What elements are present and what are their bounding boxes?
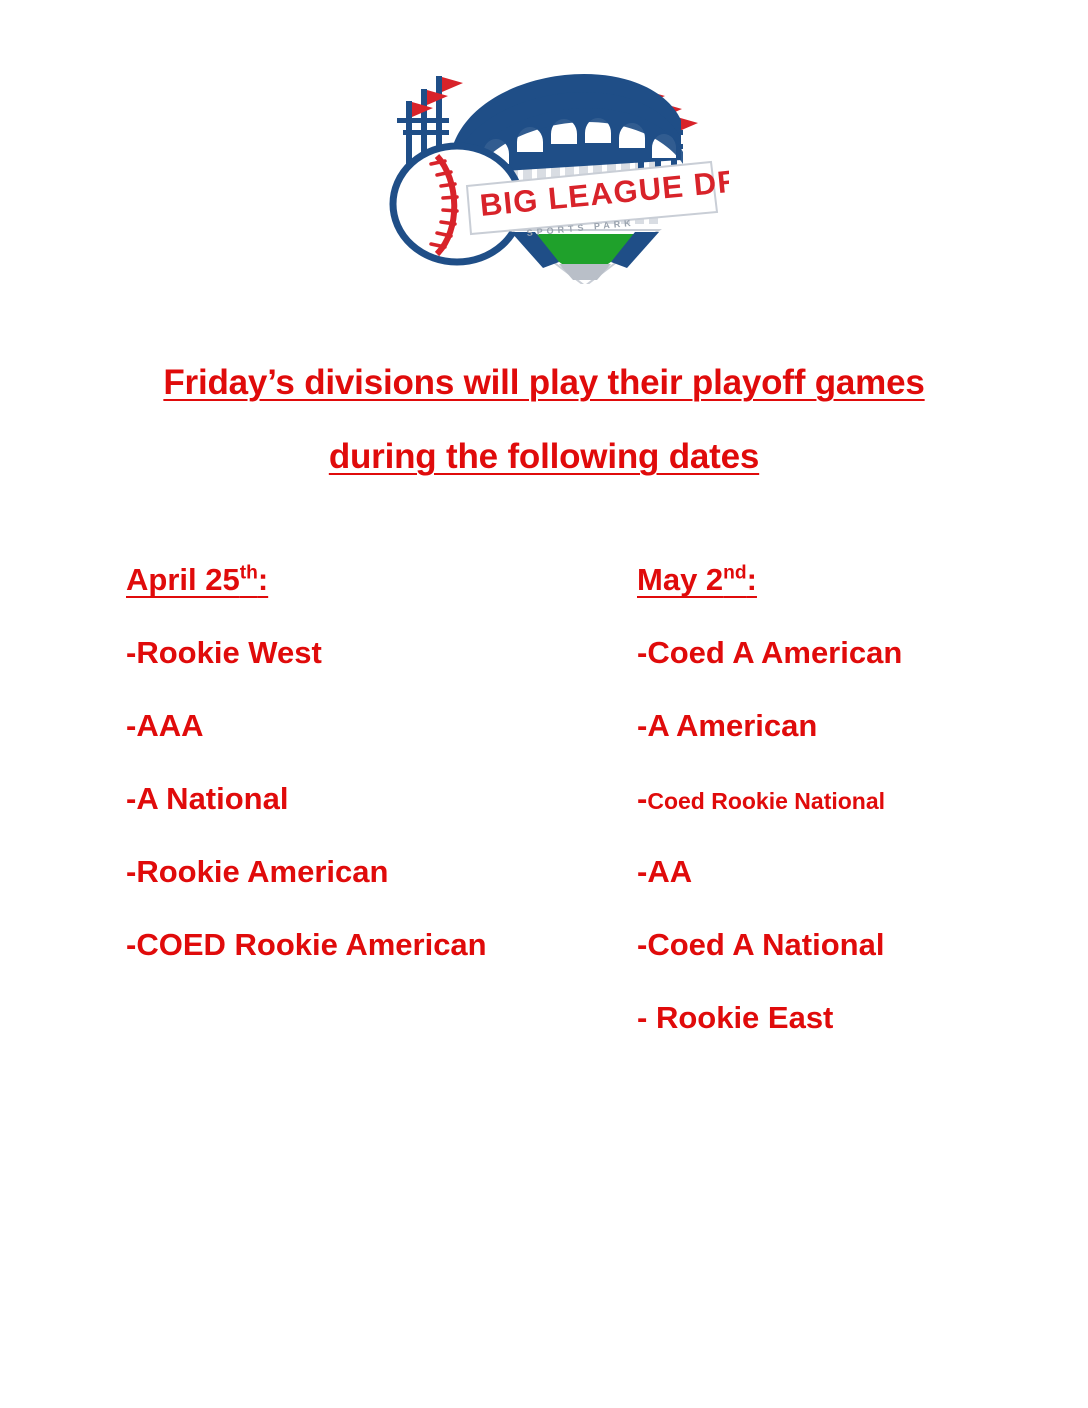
list-item: -Rookie West: [126, 633, 626, 706]
list-item: -AA: [637, 852, 1067, 925]
list-item: -Coed A National: [637, 925, 1067, 998]
list-item-dash: -: [126, 708, 136, 743]
list-item: -Coed Rookie National: [637, 779, 1067, 852]
column-april-25: April 25th: -Rookie West -AAA -A Nationa…: [126, 560, 626, 998]
date-heading-may-2: May 2nd:: [637, 560, 1067, 633]
list-item-dash: -: [126, 927, 136, 962]
list-item-dash: -: [637, 927, 647, 962]
list-item-label: COED Rookie American: [136, 927, 486, 962]
date-heading-colon: :: [258, 562, 268, 597]
baseball-diamond-icon: [511, 230, 659, 284]
title-line-2-text: during the following dates: [329, 437, 759, 476]
list-item-dash: -: [637, 1000, 656, 1035]
list-item-label: Rookie West: [136, 635, 321, 670]
list-item: -A National: [126, 779, 626, 852]
logo-container: BIG LEAGUE DREAMS SPORTS PARK: [0, 34, 1088, 284]
list-item-label: A National: [136, 781, 288, 816]
list-item-dash: -: [637, 635, 647, 670]
list-item: -Coed A American: [637, 633, 1067, 706]
page-title: Friday’s divisions will play their playo…: [0, 346, 1088, 494]
list-item-label: A American: [647, 708, 817, 743]
list-item-label: Rookie American: [136, 854, 388, 889]
list-item-dash: -: [126, 635, 136, 670]
list-item-label: Coed A American: [647, 635, 902, 670]
list-item-label: Coed A National: [647, 927, 884, 962]
title-line-2: during the following dates: [0, 420, 1088, 494]
date-heading-main: April 25: [126, 562, 240, 597]
column-may-2: May 2nd: -Coed A American -A American -C…: [637, 560, 1067, 1071]
list-item-label: AAA: [136, 708, 203, 743]
list-item-dash: -: [637, 708, 647, 743]
list-item-label: Coed Rookie National: [647, 788, 885, 814]
date-heading-ordinal: nd: [723, 563, 746, 584]
list-item: -COED Rookie American: [126, 925, 626, 998]
divisions-columns: April 25th: -Rookie West -AAA -A Nationa…: [0, 560, 1088, 1080]
big-league-dreams-logo: BIG LEAGUE DREAMS SPORTS PARK: [359, 34, 729, 284]
list-item-dash: -: [126, 854, 136, 889]
list-item-dash: -: [637, 854, 647, 889]
list-item: -AAA: [126, 706, 626, 779]
date-heading-colon: :: [747, 562, 757, 597]
list-item-label: AA: [647, 854, 692, 889]
list-item: - Rookie East: [637, 998, 1067, 1071]
date-heading-main: May 2: [637, 562, 723, 597]
date-heading-april-25: April 25th:: [126, 560, 626, 633]
list-item: -A American: [637, 706, 1067, 779]
list-item-dash: -: [126, 781, 136, 816]
list-item: -Rookie American: [126, 852, 626, 925]
list-item-label: Rookie East: [656, 1000, 833, 1035]
date-heading-ordinal: th: [240, 563, 258, 584]
list-item-dash: -: [637, 781, 647, 816]
title-line-1-text: Friday’s divisions will play their playo…: [163, 363, 924, 402]
title-line-1: Friday’s divisions will play their playo…: [0, 346, 1088, 420]
